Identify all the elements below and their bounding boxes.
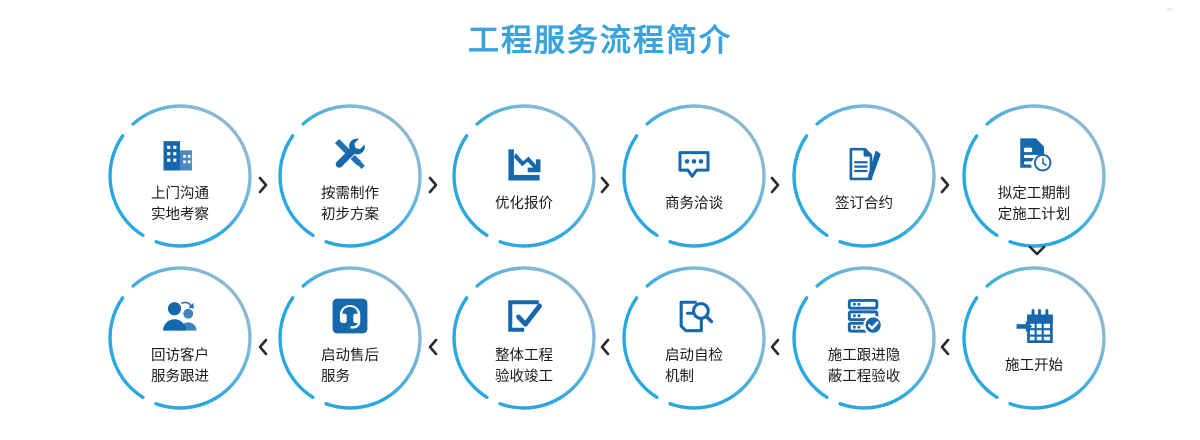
- flow-step-6-line1: 拟定工期制: [998, 186, 1071, 202]
- flow-step-6[interactable]: 拟定工期制 定施工计划: [958, 100, 1110, 252]
- flow-step-5[interactable]: 签订合约: [788, 100, 940, 252]
- chevron-right-icon: [594, 174, 616, 196]
- flow-diagram: 工程服务流程简介: [0, 0, 1200, 440]
- chevron-right-icon: [764, 174, 786, 196]
- chart-down-icon: [501, 141, 547, 187]
- chevron-down-icon: [1026, 242, 1048, 260]
- flow-step-9-line2: 机制: [665, 367, 723, 388]
- flow-step-10-line2: 验收竣工: [495, 367, 553, 388]
- document-pen-icon: [841, 141, 887, 187]
- flow-step-6-label: 拟定工期制 定施工计划: [998, 184, 1071, 225]
- flow-step-1-line1: 上门沟通: [151, 186, 209, 202]
- flow-step-3-label: 优化报价: [495, 194, 553, 215]
- flow-step-4-label: 商务洽谈: [665, 194, 723, 215]
- flow-step-5-line1: 签订合约: [835, 196, 893, 212]
- flow-step-11-line1: 启动售后: [321, 348, 379, 364]
- flow-step-2-line2: 初步方案: [321, 205, 379, 226]
- flow-step-12[interactable]: 回访客户 服务跟进: [104, 262, 256, 414]
- flow-step-9-label: 启动自检 机制: [665, 346, 723, 387]
- flow-step-9[interactable]: 启动自检 机制: [618, 262, 770, 414]
- flow-step-12-line1: 回访客户: [151, 348, 209, 364]
- calendar-start-icon: [1011, 303, 1057, 349]
- flow-step-11-label: 启动售后 服务: [321, 346, 379, 387]
- chevron-right-icon: [422, 174, 444, 196]
- flow-step-3-line1: 优化报价: [495, 196, 553, 212]
- flow-step-7[interactable]: 施工开始: [958, 262, 1110, 414]
- flow-step-1[interactable]: 上门沟通 实地考察: [104, 100, 256, 252]
- flow-step-10[interactable]: 整体工程 验收竣工: [448, 262, 600, 414]
- chevron-left-icon: [422, 336, 444, 358]
- flow-step-7-line1: 施工开始: [1005, 358, 1063, 374]
- flow-step-2-line1: 按需制作: [321, 186, 379, 202]
- checkbox-check-icon: [501, 293, 547, 339]
- chevron-left-icon: [934, 336, 956, 358]
- flow-step-12-label: 回访客户 服务跟进: [151, 346, 209, 387]
- flow-step-4-line1: 商务洽谈: [665, 196, 723, 212]
- flow-step-1-line2: 实地考察: [151, 205, 209, 226]
- flow-step-2-label: 按需制作 初步方案: [321, 184, 379, 225]
- flow-step-8-line1: 施工跟进隐: [828, 348, 901, 364]
- flow-step-8[interactable]: 施工跟进隐 蔽工程验收: [788, 262, 940, 414]
- chevron-left-icon: [252, 336, 274, 358]
- chevron-right-icon: [252, 174, 274, 196]
- flow-step-7-label: 施工开始: [1005, 356, 1063, 377]
- server-check-icon: [841, 293, 887, 339]
- document-search-icon: [671, 293, 717, 339]
- flow-step-11[interactable]: 启动售后 服务: [274, 262, 426, 414]
- page-title: 工程服务流程简介: [0, 22, 1200, 59]
- flow-step-2[interactable]: 按需制作 初步方案: [274, 100, 426, 252]
- flow-step-1-label: 上门沟通 实地考察: [151, 184, 209, 225]
- corner-artifact: [1166, 8, 1172, 11]
- flow-row-1: 上门沟通 实地考察: [0, 98, 1200, 258]
- chevron-left-icon: [764, 336, 786, 358]
- speech-bubble-icon: [671, 141, 717, 187]
- flow-row-2: 回访客户 服务跟进: [0, 260, 1200, 420]
- flow-step-11-line2: 服务: [321, 367, 379, 388]
- document-clock-icon: [1011, 131, 1057, 177]
- flow-step-9-line1: 启动自检: [665, 348, 723, 364]
- headset-icon: [327, 293, 373, 339]
- flow-step-10-line1: 整体工程: [495, 348, 553, 364]
- flow-step-8-label: 施工跟进隐 蔽工程验收: [828, 346, 901, 387]
- chevron-right-icon: [934, 174, 956, 196]
- flow-step-3[interactable]: 优化报价: [448, 100, 600, 252]
- flow-step-10-label: 整体工程 验收竣工: [495, 346, 553, 387]
- people-icon: [157, 293, 203, 339]
- flow-step-8-line2: 蔽工程验收: [828, 367, 901, 388]
- chevron-left-icon: [594, 336, 616, 358]
- wrench-screwdriver-icon: [327, 131, 373, 177]
- flow-step-6-line2: 定施工计划: [998, 205, 1071, 226]
- flow-step-5-label: 签订合约: [835, 194, 893, 215]
- flow-step-12-line2: 服务跟进: [151, 367, 209, 388]
- flow-step-4[interactable]: 商务洽谈: [618, 100, 770, 252]
- building-icon: [157, 131, 203, 177]
